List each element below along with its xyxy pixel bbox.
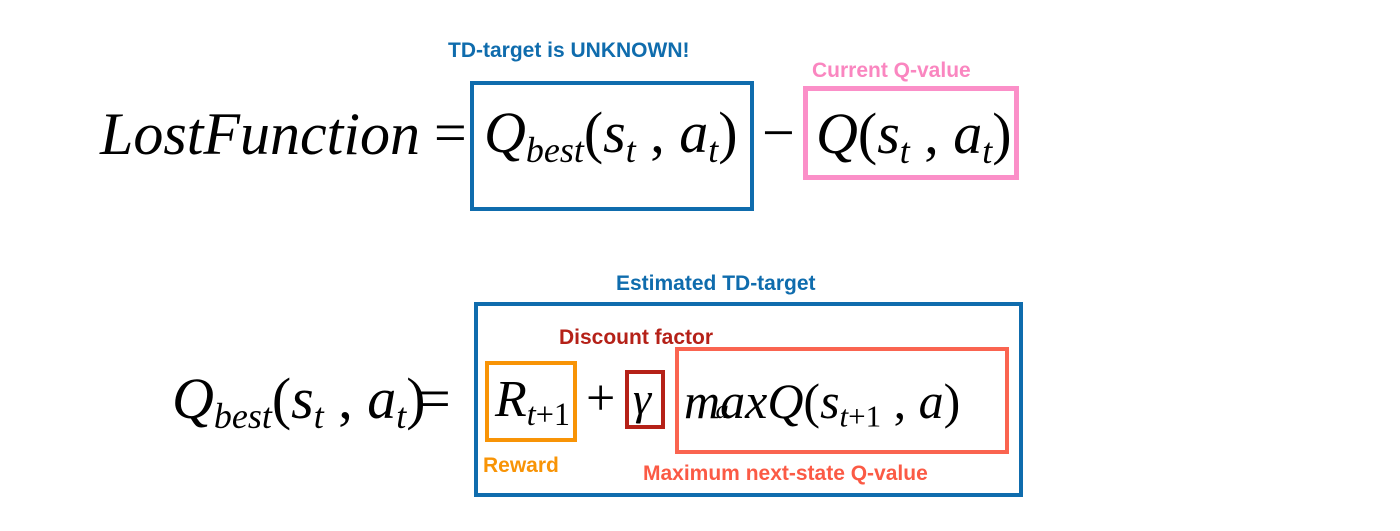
diagram-canvas: TD-target is UNKNOWN! Current Q-value Lo… [0,0,1400,531]
annotation-label-maximum-next-state-q-value: Maximum next-state Q-value [643,463,928,484]
q-symbol: Q [172,366,214,431]
q-subscript-best: best [214,396,272,436]
reward-subscript-plus-one: +1 [536,396,570,432]
argument-comma: , [910,101,954,166]
annotation-label-discount-factor: Discount factor [559,327,713,348]
max-operator-subscript-a: a [716,397,729,423]
equation-2-left-hand-side: Qbest(st , at) [172,370,426,435]
max-operator-group: maxa [684,376,767,426]
open-paren: ( [858,101,877,166]
annotation-label-estimated-td-target: Estimated TD-target [612,273,820,294]
annotation-label-current-q-value: Current Q-value [812,60,971,81]
equation-2-plus-sign: + [586,373,615,425]
equation-1-left-hand-side: LostFunction [100,104,420,164]
action-symbol: a [367,366,396,431]
action-subscript: t [396,396,406,436]
state-symbol: s [603,100,626,165]
action-symbol: a [679,100,708,165]
next-state-subscript-plus-one: +1 [848,399,881,434]
q-symbol: Q [767,373,803,429]
close-paren: ) [944,373,961,429]
gamma-symbol: γ [633,376,651,422]
action-symbol: a [953,101,982,166]
next-state-symbol: s [820,373,839,429]
reward-subscript-t: t [527,396,536,432]
argument-comma: , [636,100,680,165]
equation-1-equals-sign: = [434,104,467,162]
action-symbol: a [919,373,944,429]
open-paren: ( [272,366,291,431]
argument-comma: , [324,366,368,431]
action-subscript: t [982,131,992,171]
q-symbol: Q [816,101,858,166]
action-subscript: t [708,130,718,170]
state-symbol: s [291,366,314,431]
equation-1-td-target-expression: Qbest(st , at) [484,104,738,169]
q-symbol: Q [484,100,526,165]
equation-2-equals-sign: = [418,370,451,428]
open-paren: ( [584,100,603,165]
close-paren: ) [992,101,1011,166]
annotation-label-td-target-unknown: TD-target is UNKNOWN! [448,40,690,61]
equation-1-minus-sign: − [762,104,795,162]
open-paren: ( [803,373,820,429]
reward-symbol: R [495,371,527,428]
equation-2-max-q-expression: maxaQ(st+1 , a) [684,376,960,432]
annotation-label-reward: Reward [483,455,559,476]
state-symbol: s [877,101,900,166]
argument-comma: , [881,373,919,429]
equation-2-reward-expression: Rt+1 [495,374,570,430]
state-subscript: t [626,130,636,170]
state-subscript: t [900,131,910,171]
q-subscript-best: best [526,130,584,170]
state-subscript: t [314,396,324,436]
close-paren: ) [718,100,737,165]
next-state-subscript-t: t [840,399,849,434]
equation-1-current-q-expression: Q(st , at) [816,105,1012,170]
